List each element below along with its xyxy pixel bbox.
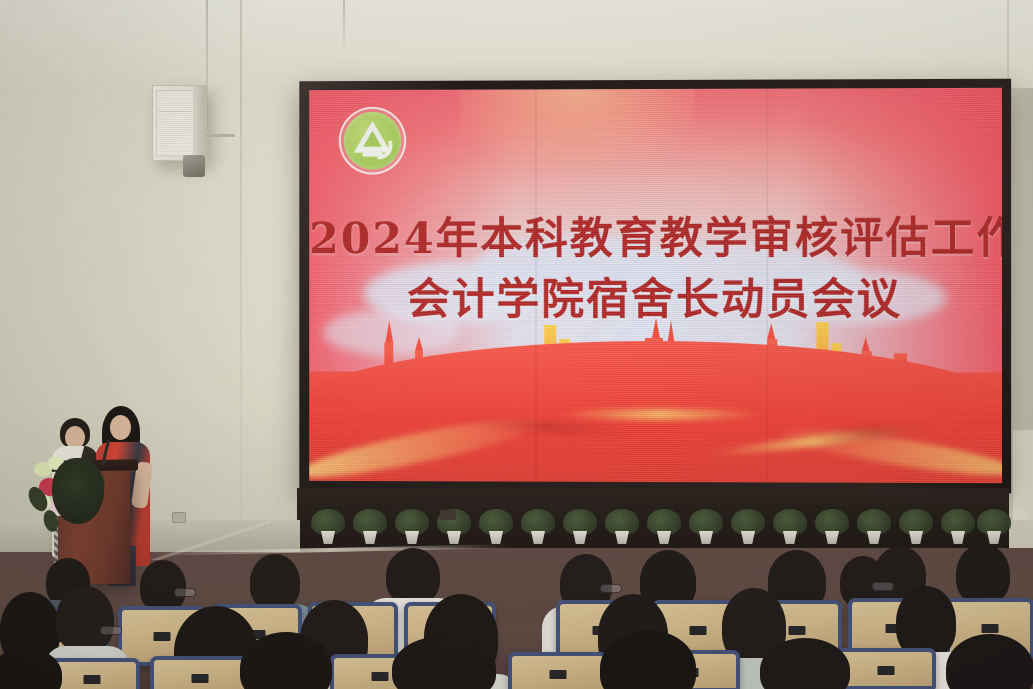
dark-foliage [52,458,104,524]
emblem-ring [339,106,406,174]
speaker-mount-arm [205,134,235,137]
speaker-mount-bracket [183,155,205,177]
auditorium-seat[interactable] [150,656,250,689]
ribbon-fold-highlight [557,409,765,420]
university-emblem-icon [339,106,406,174]
speaker-side [194,86,206,160]
speaker-grill [156,90,194,156]
banner-title-line-1: 2024年本科教育教学审核评估工作 [309,208,1002,270]
audience-area [0,520,1033,689]
auditorium-seat[interactable] [836,648,936,689]
auditorium-seat[interactable] [508,652,608,689]
led-screen-surface: 2024年本科教育教学审核评估工作 会计学院宿舍长动员会议 [309,88,1002,483]
ribbon-highlight-left [309,408,543,483]
wall-speaker-icon [152,85,207,161]
wall-jack [440,510,456,520]
red-silk-ribbon [309,371,1002,483]
auditorium-scene: 2024年本科教育教学审核评估工作 会计学院宿舍长动员会议 [0,0,1033,689]
presenter-head [110,415,131,440]
wall-panel-right-lower [1013,430,1033,520]
screen-warm-glow [460,89,695,176]
wall-seam [240,0,242,560]
led-screen-frame: 2024年本科教育教学审核评估工作 会计学院宿舍长动员会议 [299,79,1011,494]
wall-seam [343,0,345,44]
